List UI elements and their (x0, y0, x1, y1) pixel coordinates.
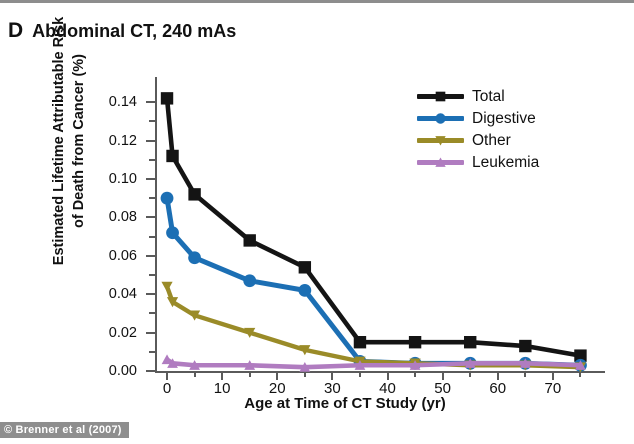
legend-marker-square-icon (417, 88, 464, 105)
data-point-square (436, 92, 446, 102)
watermark-credit: © Brenner et al (2007) (0, 422, 129, 438)
legend-item-leukemia[interactable]: Leukemia (417, 153, 539, 172)
y-tick-label: 0.04 (77, 286, 137, 302)
legend-label: Other (472, 132, 511, 150)
legend-marker-circle-icon (417, 110, 464, 127)
legend-marker-triangle-up-icon (417, 154, 464, 171)
y-tick-major (146, 293, 155, 295)
data-point-square (354, 336, 366, 348)
legend-item-digestive[interactable]: Digestive (417, 109, 539, 128)
y-tick-label: 0.12 (77, 133, 137, 149)
legend-label: Digestive (472, 110, 536, 128)
series-leukemia (162, 354, 586, 371)
legend-label: Total (472, 88, 505, 106)
data-point-circle (243, 274, 256, 287)
data-point-square (299, 261, 311, 273)
y-tick-label: 0.02 (77, 325, 137, 341)
legend-glyph-circle-icon (434, 112, 447, 125)
data-point-circle (435, 113, 445, 123)
data-point-triangle-up (435, 158, 445, 167)
data-point-square (519, 340, 531, 352)
legend-marker-triangle-down-icon (417, 132, 464, 149)
legend-glyph-triangle-down-icon (434, 134, 447, 147)
data-point-triangle-down (435, 136, 445, 145)
data-point-circle (166, 226, 179, 239)
data-point-circle (188, 251, 201, 264)
data-point-square (166, 150, 178, 162)
y-tick-major (146, 332, 155, 334)
data-point-square (244, 234, 256, 246)
legend-glyph-triangle-up-icon (434, 156, 447, 169)
data-point-circle (298, 284, 311, 297)
y-tick-label: 0.14 (77, 94, 137, 110)
data-point-square (188, 188, 200, 200)
data-point-triangle-down (161, 282, 172, 292)
y-tick-label: 0.00 (77, 363, 137, 379)
x-axis-title: Age at Time of CT Study (yr) (135, 395, 555, 412)
y-tick-label: 0.08 (77, 209, 137, 225)
y-tick-major (146, 370, 155, 372)
y-tick-major (146, 255, 155, 257)
y-tick-label: 0.06 (77, 248, 137, 264)
chart-legend: TotalDigestiveOtherLeukemia (417, 87, 539, 175)
legend-item-other[interactable]: Other (417, 131, 539, 150)
legend-item-total[interactable]: Total (417, 87, 539, 106)
data-point-circle (161, 192, 174, 205)
y-tick-label: 0.10 (77, 171, 137, 187)
legend-glyph-square-icon (434, 90, 447, 103)
y-tick-major (146, 178, 155, 180)
data-point-square (464, 336, 476, 348)
panel-title: D Abdominal CT, 240 mAs (8, 19, 236, 43)
figure-panel: D Abdominal CT, 240 mAs Estimated Lifeti… (0, 0, 634, 444)
y-tick-major (146, 101, 155, 103)
legend-label: Leukemia (472, 154, 539, 172)
y-tick-major (146, 216, 155, 218)
y-tick-major (146, 140, 155, 142)
y-axis-title-line1: Estimated Lifetime Attributable Risk (51, 17, 67, 265)
data-point-square (409, 336, 421, 348)
panel-letter: D (8, 19, 23, 43)
series-line (167, 287, 580, 368)
data-point-square (161, 92, 173, 104)
